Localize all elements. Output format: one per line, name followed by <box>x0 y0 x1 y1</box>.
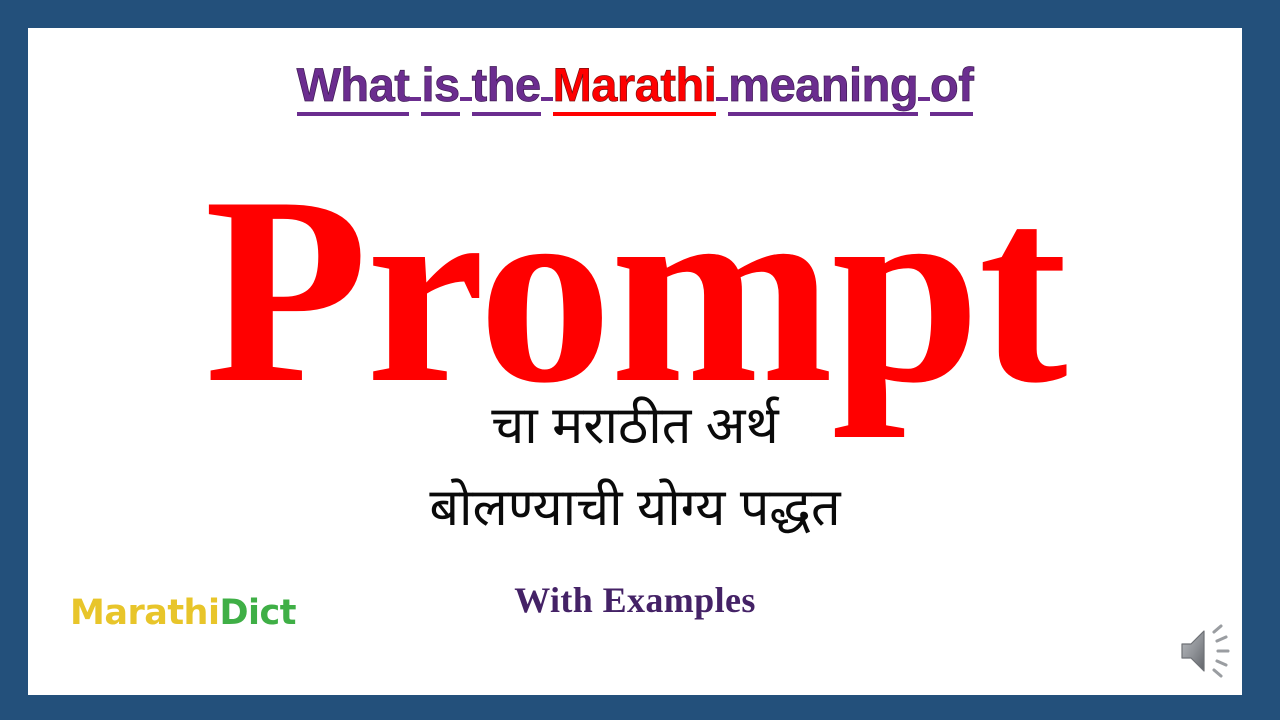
headword: Prompt <box>28 156 1242 424</box>
speaker-volume-icon[interactable] <box>1176 620 1242 682</box>
title-word-meaning: meaning <box>728 60 918 116</box>
title-word-what: What <box>297 60 410 116</box>
title-word-of: of <box>930 60 973 116</box>
marathi-meaning-line-1: चा मराठीत अर्थ <box>28 396 1242 457</box>
title-space <box>541 94 553 101</box>
logo-text-marathi: Marathi <box>70 593 219 633</box>
title-space <box>409 94 421 101</box>
title-word-the: the <box>472 60 541 116</box>
slide-canvas: WhatistheMarathimeaningof Prompt चा मराठ… <box>28 28 1242 695</box>
slide-frame: WhatistheMarathimeaningof Prompt चा मराठ… <box>0 0 1280 720</box>
logo-text-dict: Dict <box>219 593 296 633</box>
marathi-meaning-line-2: बोलण्याची योग्य पद्धत <box>28 478 1242 539</box>
title-space <box>460 94 472 101</box>
title-word-marathi: Marathi <box>553 60 717 116</box>
page-title: WhatistheMarathimeaningof <box>28 60 1242 116</box>
title-space <box>918 94 930 101</box>
brand-logo: MarathiDict <box>70 593 296 633</box>
title-space <box>716 94 728 101</box>
title-word-is: is <box>421 60 459 116</box>
